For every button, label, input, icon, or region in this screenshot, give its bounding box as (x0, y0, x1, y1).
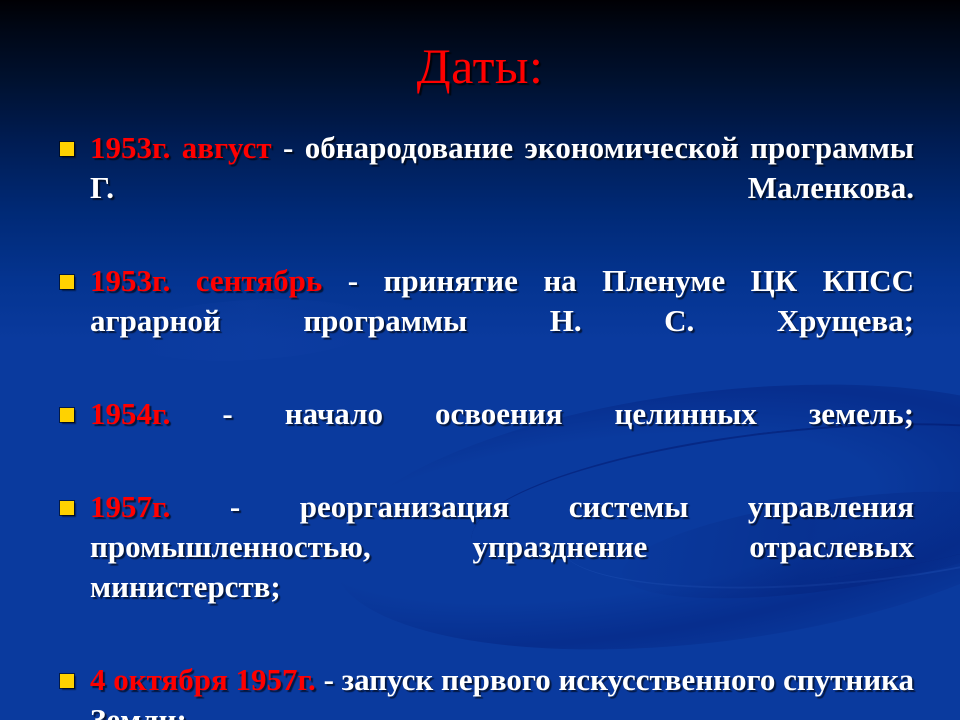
list-item-date: 1957г. (90, 489, 170, 524)
bullet-list: 1953г. август - обнародование экономичес… (58, 128, 914, 720)
list-item-date: 1953г. август (90, 130, 272, 165)
list-item-date: 1954г. (90, 396, 170, 431)
list-item-date: 1953г. сентябрь (90, 263, 322, 298)
list-item-dash: - (283, 130, 293, 165)
square-bullet-icon (60, 674, 74, 688)
list-item-description: реорганизация системы управления промышл… (90, 489, 914, 604)
square-bullet-icon (60, 275, 74, 289)
list-item-date: 4 октября 1957г. (90, 662, 316, 697)
slide-title: Даты: (0, 38, 960, 94)
list-item-text: 1954г. - начало освоения целинных земель… (90, 394, 914, 474)
list-item: 1957г. - реорганизация системы управлени… (58, 487, 914, 647)
list-item-dash: - (324, 662, 334, 697)
list-item-text: 1953г. сентябрь - принятие на Пленуме ЦК… (90, 261, 914, 381)
list-item-text: 4 октября 1957г. - запуск первого искусс… (90, 660, 914, 720)
list-item-text: 1957г. - реорганизация системы управлени… (90, 487, 914, 647)
list-item: 1954г. - начало освоения целинных земель… (58, 394, 914, 474)
list-item: 4 октября 1957г. - запуск первого искусс… (58, 660, 914, 720)
square-bullet-icon (60, 501, 74, 515)
list-item: 1953г. август - обнародование экономичес… (58, 128, 914, 248)
presentation-slide: Даты: 1953г. август - обнародование экон… (0, 0, 960, 720)
square-bullet-icon (60, 142, 74, 156)
list-item-text: 1953г. август - обнародование экономичес… (90, 128, 914, 248)
list-item-dash: - (222, 396, 232, 431)
list-item-description: начало освоения целинных земель; (285, 396, 914, 431)
square-bullet-icon (60, 408, 74, 422)
list-item-dash: - (348, 263, 358, 298)
list-item-dash: - (230, 489, 240, 524)
list-item: 1953г. сентябрь - принятие на Пленуме ЦК… (58, 261, 914, 381)
